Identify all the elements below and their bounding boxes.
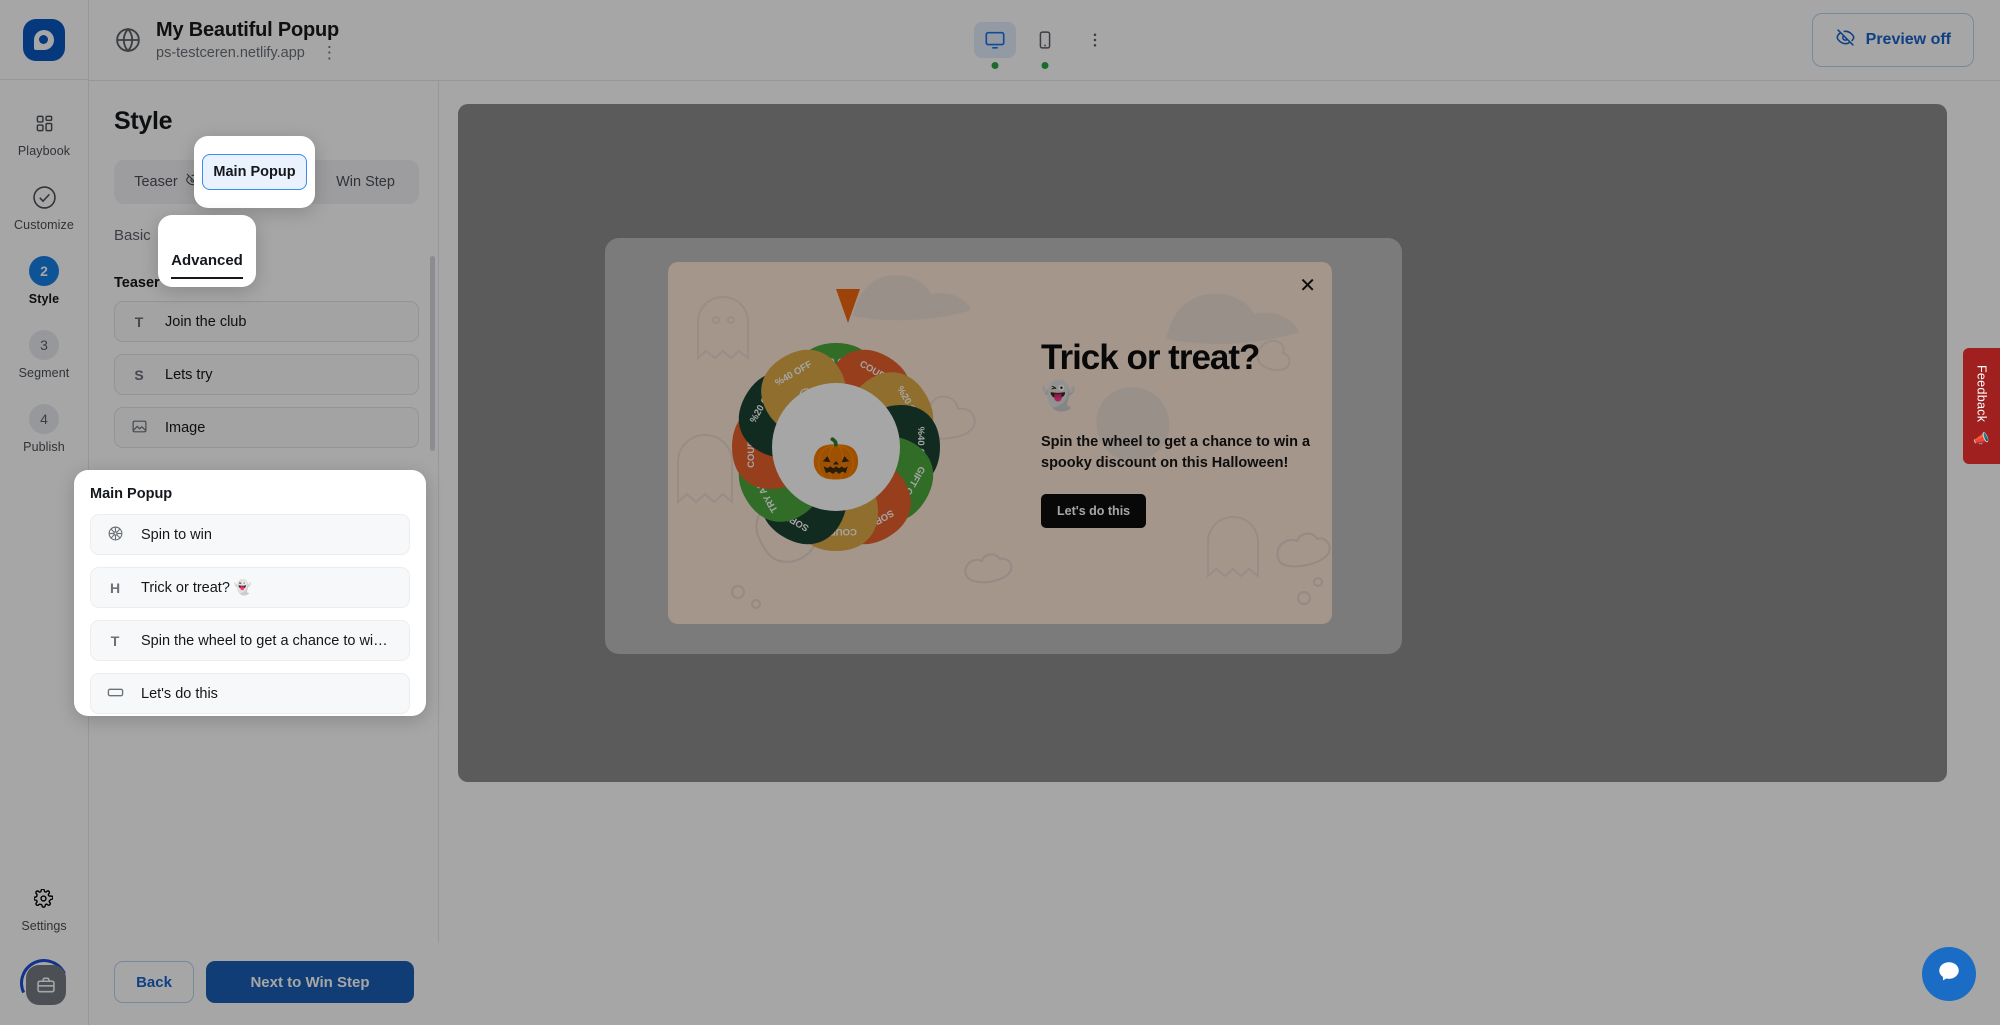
topbar-left: My Beautiful Popup ps-testceren.netlify.… [89, 19, 339, 61]
popup-content: Trick or treat? 👻 Spin the wheel to get … [1023, 262, 1332, 624]
list-item[interactable]: Let's do this [90, 673, 410, 714]
sidebar-item-playbook[interactable]: Playbook [6, 98, 82, 166]
popup-cta-button[interactable]: Let's do this [1041, 494, 1146, 528]
intercom-launcher[interactable] [1922, 947, 1976, 1001]
app-root: Playbook Customize 2 Style 3 Segment 4 [0, 0, 2000, 1025]
device-mobile-button[interactable] [1024, 22, 1066, 58]
heading-icon: H [105, 580, 125, 596]
list-item[interactable]: Spin to win [90, 514, 410, 555]
button-icon [105, 686, 125, 702]
briefcase-icon [26, 965, 66, 1005]
grid-icon [29, 108, 59, 138]
list-item-label: Lets try [165, 367, 213, 383]
step-number: 3 [29, 330, 59, 360]
list-item-label: Trick or treat? 👻 [141, 579, 252, 596]
list-item-label: Spin to win [141, 527, 212, 543]
wheel-icon [105, 525, 125, 545]
popup-preview: ✕ %50 OFFCOUPON%20 OFF%40 OFFGIFT CARDSO… [668, 262, 1332, 624]
site-url: ps-testceren.netlify.app [156, 45, 305, 61]
feedback-label: Feedback [1975, 365, 1989, 422]
list-item-label: Image [165, 420, 205, 436]
image-icon [129, 418, 149, 438]
device-status-dot [991, 62, 998, 69]
device-status-dot [1041, 62, 1048, 69]
sidebar-item-style[interactable]: 2 Style [6, 246, 82, 314]
subtitle-icon: S [129, 367, 149, 383]
globe-icon [114, 26, 142, 54]
tab-win-step-label: Win Step [336, 174, 395, 190]
sidebar-item-label: Playbook [18, 144, 70, 158]
vertical-dots-icon[interactable]: ⋮ [321, 44, 339, 61]
sidebar-item-label: Style [29, 292, 59, 306]
wheel-pointer [836, 289, 860, 323]
eye-off-icon [1835, 27, 1856, 53]
panel-title: Style [89, 81, 438, 136]
popupsmart-logo[interactable] [23, 19, 65, 61]
list-item[interactable]: S Lets try [114, 354, 419, 395]
tab-advanced[interactable]: Advanced [171, 252, 243, 279]
list-item[interactable]: H Trick or treat? 👻 [90, 567, 410, 608]
step-number: 4 [29, 404, 59, 434]
tab-basic-label: Basic [114, 227, 151, 244]
wheel-svg: %50 OFFCOUPON%20 OFF%40 OFFGIFT CARDSORR… [668, 262, 1004, 624]
sidebar-item-customize[interactable]: Customize [6, 172, 82, 240]
megaphone-icon: 📣 [1973, 431, 1989, 447]
sidebar-item-publish[interactable]: 4 Publish [6, 394, 82, 462]
tab-win-step[interactable]: Win Step [316, 164, 415, 200]
spotlight-main-popup-tab: Main Popup [194, 136, 315, 208]
top-bar: My Beautiful Popup ps-testceren.netlify.… [89, 0, 2000, 81]
list-item[interactable]: T Spin the wheel to get a chance to win … [90, 620, 410, 661]
list-item-label: Spin the wheel to get a chance to win a … [141, 633, 395, 649]
tab-teaser-label: Teaser [134, 174, 178, 190]
logo-wrap [0, 0, 88, 80]
gear-icon [34, 889, 53, 913]
text-icon: T [129, 314, 149, 330]
sidebar-item-label: Customize [14, 218, 74, 232]
ghost-emoji: 👻 [1041, 378, 1312, 414]
topbar-right: Preview off [1812, 13, 2000, 67]
close-icon[interactable]: ✕ [1299, 276, 1316, 296]
spotlight-advanced-tab: Advanced [158, 215, 256, 287]
panel-footer: Back Next to Win Step [89, 943, 439, 1025]
sidebar-item-label: Publish [23, 440, 65, 454]
page-title: My Beautiful Popup [156, 19, 339, 42]
avatar[interactable] [20, 959, 68, 1007]
pumpkin-emoji: 🎃 [811, 436, 861, 482]
back-button[interactable]: Back [114, 961, 194, 1003]
settings-label: Settings [21, 919, 66, 933]
tab-main-popup[interactable]: Main Popup [202, 154, 307, 190]
sidebar-item-settings[interactable]: Settings [21, 889, 66, 933]
spin-wheel[interactable]: %50 OFFCOUPON%20 OFF%40 OFFGIFT CARDSORR… [668, 262, 1004, 624]
topbar-url-row: ps-testceren.netlify.app ⋮ [156, 44, 339, 61]
spotlight-main-popup-section: Main Popup Spin to win H Trick or treat?… [74, 470, 426, 716]
topbar-titles: My Beautiful Popup ps-testceren.netlify.… [156, 19, 339, 61]
panel-scrollbar[interactable] [430, 256, 435, 451]
check-circle-icon [29, 182, 59, 212]
next-to-win-step-button[interactable]: Next to Win Step [206, 961, 414, 1003]
logo-blob-icon [34, 30, 54, 50]
device-desktop-button[interactable] [974, 22, 1016, 58]
list-item-label: Join the club [165, 314, 246, 330]
list-item-label: Let's do this [141, 686, 218, 702]
section-label-main-popup: Main Popup [90, 486, 426, 502]
text-icon: T [105, 633, 125, 649]
popup-heading: Trick or treat? [1041, 340, 1312, 376]
preview-label: Preview off [1866, 31, 1951, 49]
list-item[interactable]: T Join the club [114, 301, 419, 342]
chat-icon [1936, 959, 1962, 990]
rail-bottom: Settings [0, 889, 88, 1025]
device-more-button[interactable] [1074, 22, 1116, 58]
popup-subtext: Spin the wheel to get a chance to win a … [1041, 432, 1312, 473]
preview-toggle-button[interactable]: Preview off [1812, 13, 1974, 67]
feedback-tab[interactable]: Feedback 📣 [1963, 348, 2000, 464]
rail-items: Playbook Customize 2 Style 3 Segment 4 [0, 98, 88, 468]
list-item[interactable]: Image [114, 407, 419, 448]
step-number: 2 [29, 256, 59, 286]
sidebar-item-segment[interactable]: 3 Segment [6, 320, 82, 388]
device-switcher [974, 22, 1116, 58]
sidebar-item-label: Segment [19, 366, 70, 380]
